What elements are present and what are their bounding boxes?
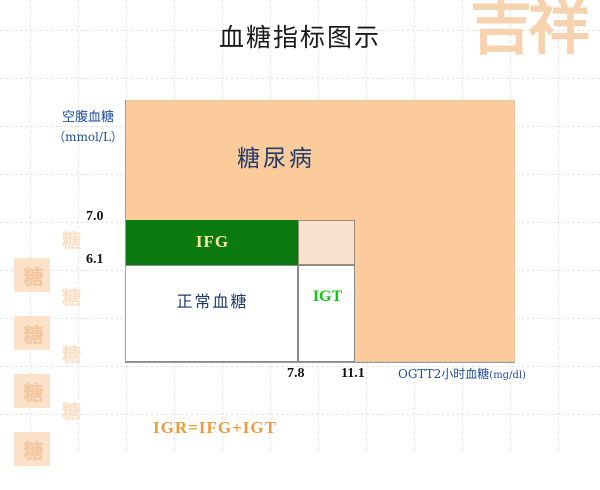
region-igt: IGT (298, 265, 355, 362)
seal-watermark-icon: 糖 (14, 374, 50, 408)
y-axis-title: 空腹血糖 （mmol/L） (52, 108, 124, 146)
y-axis-line (125, 100, 126, 362)
seal-watermark-icon: 糖 (62, 340, 81, 367)
y-axis-tick-7-0: 7.0 (86, 209, 104, 225)
x-axis-tick-7-8: 7.8 (287, 366, 305, 382)
y-axis-tick-6-1: 6.1 (86, 252, 104, 268)
x-axis-unit: (mg/dl) (489, 370, 526, 381)
x-axis-tick-11-1: 11.1 (341, 366, 365, 382)
region-normal-glucose-label: 正常血糖 (126, 288, 299, 312)
seal-watermark-icon: 糖 (14, 258, 50, 292)
y-axis-unit: （mmol/L） (52, 128, 124, 146)
region-igt-label: IGT (299, 288, 356, 306)
region-ifg-label: IFG (126, 232, 299, 252)
seal-watermark-icon: 糖 (62, 226, 81, 253)
region-diabetes-label: 糖尿病 (126, 139, 426, 173)
region-ifg-igt-overlap (298, 220, 355, 265)
region-normal-glucose: 正常血糖 (125, 265, 298, 362)
region-ifg: IFG (125, 220, 298, 265)
horizontal-guide (0, 414, 600, 415)
page-title: 血糖指标图示 (0, 18, 600, 54)
x-axis-name: OGTT2小时血糖 (398, 367, 489, 381)
y-axis-name: 空腹血糖 (52, 108, 124, 128)
seal-watermark-column: 糖 糖 糖 糖 (14, 258, 50, 490)
seal-watermark-icon: 糖 (62, 283, 81, 310)
horizontal-guide (0, 78, 600, 79)
formula-caption: IGR=IFG+IGT (0, 418, 430, 438)
glucose-classification-chart: 糖尿病 IFG 正常血糖 IGT (125, 100, 515, 362)
x-axis-line (125, 362, 515, 363)
x-axis-title: OGTT2小时血糖(mg/dl) (398, 365, 526, 382)
seal-watermark-icon: 糖 (14, 316, 50, 350)
vertical-guide (558, 0, 559, 450)
